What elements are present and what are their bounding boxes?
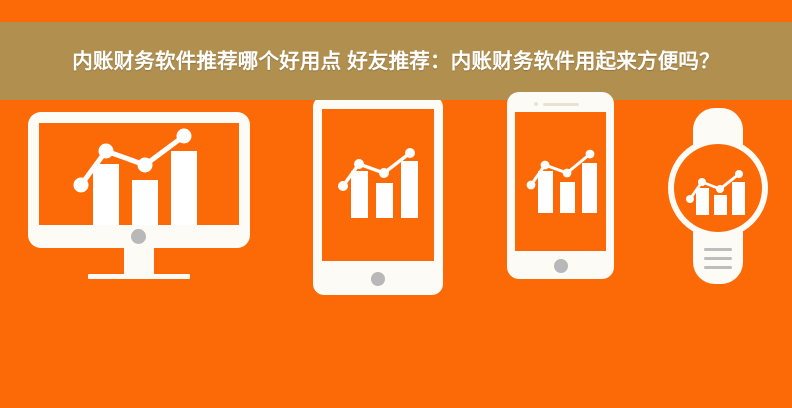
monitor-stand-base <box>88 274 190 279</box>
smartwatch-icon <box>664 108 772 284</box>
tablet-home-button[interactable] <box>371 272 385 286</box>
analytics-chart-icon <box>322 109 434 261</box>
smartphone-camera <box>534 102 538 106</box>
monitor-indicator-dot <box>131 229 146 244</box>
promo-banner-image: 内账财务软件推荐哪个好用点 好友推荐：内账财务软件用起来方便吗？ <box>0 0 792 408</box>
smartphone-screen <box>515 112 606 251</box>
strap-line <box>704 257 732 260</box>
tablet-screen <box>322 109 434 261</box>
page-title: 内账财务软件推荐哪个好用点 好友推荐：内账财务软件用起来方便吗？ <box>33 46 759 77</box>
monitor-screen <box>39 123 239 225</box>
strap-line <box>704 266 732 269</box>
monitor-stand-neck <box>124 248 154 275</box>
analytics-chart-icon <box>668 138 768 238</box>
analytics-chart-icon <box>515 112 606 251</box>
smartphone-icon <box>507 92 614 279</box>
strap-line <box>704 248 732 251</box>
smartwatch-face <box>668 138 768 238</box>
title-banner: 内账财务软件推荐哪个好用点 好友推荐：内账财务软件用起来方便吗？ <box>0 22 792 100</box>
smartphone-speaker-slot <box>543 103 579 106</box>
smartphone-home-button[interactable] <box>554 259 568 273</box>
analytics-chart-icon <box>39 123 239 225</box>
monitor-icon <box>28 112 250 284</box>
tablet-icon <box>313 96 443 295</box>
